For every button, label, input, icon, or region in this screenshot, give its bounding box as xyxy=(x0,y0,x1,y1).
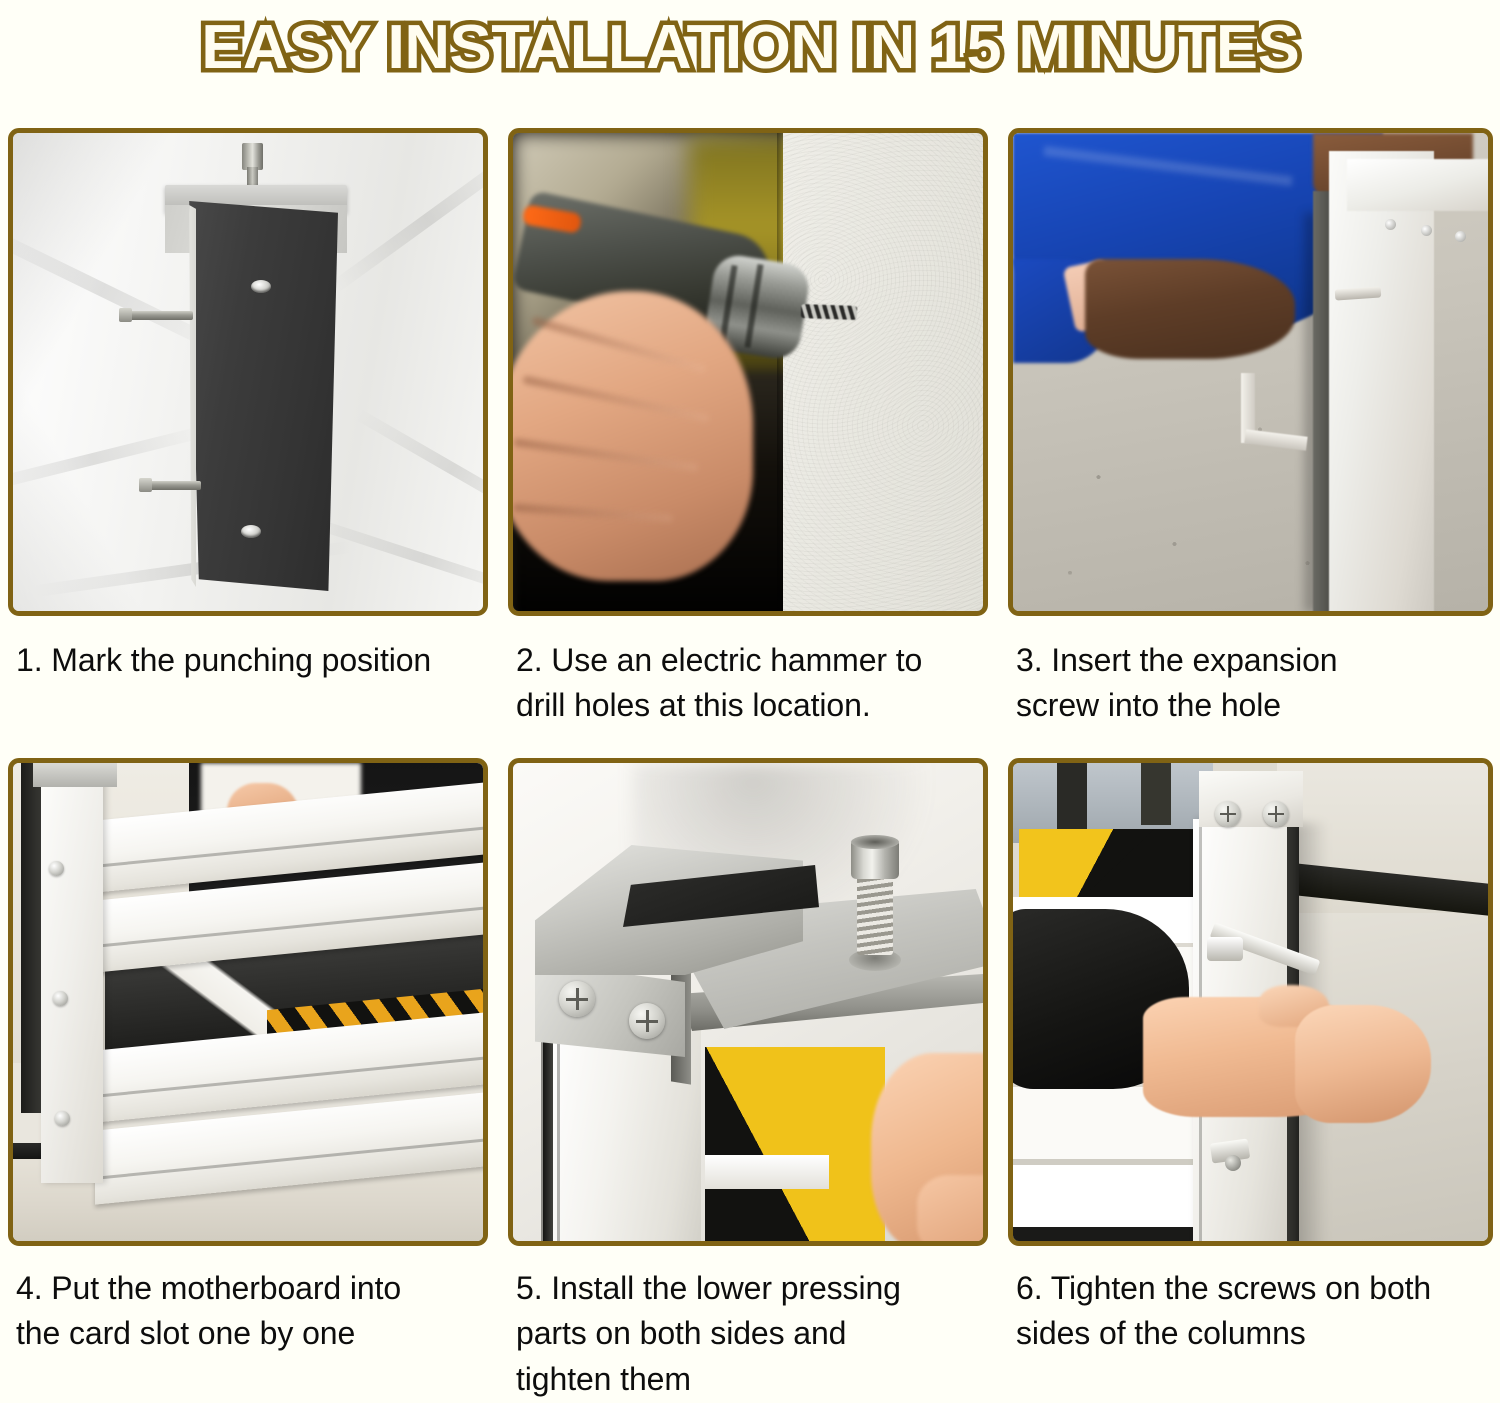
wrench-head xyxy=(1207,937,1243,961)
step-4-photo xyxy=(8,758,488,1246)
background-dark-bar xyxy=(1141,763,1171,825)
column-screw xyxy=(55,1111,70,1126)
hand-holding-drill xyxy=(513,291,753,581)
top-bolt-head xyxy=(242,143,263,170)
fingers xyxy=(917,1175,983,1241)
hand-tightening-screw xyxy=(1295,1005,1431,1123)
thumb-screw-top xyxy=(851,835,899,849)
step-6: 6. Tighten the screws on both sides of t… xyxy=(1008,758,1493,1402)
worker-arm xyxy=(1085,259,1295,359)
column-dark-edge xyxy=(21,763,43,1113)
step-6-photo xyxy=(1008,758,1493,1246)
phillips-screw xyxy=(1263,801,1289,827)
lower-bolt-head xyxy=(1225,1155,1241,1171)
white-column xyxy=(41,763,103,1183)
step-1: 1. Mark the punching position xyxy=(8,128,488,758)
phillips-screw xyxy=(629,1003,665,1039)
step-5-caption-line: 5. Install the lower pressing xyxy=(516,1266,982,1311)
step-3: 3. Insert the expansion screw into the h… xyxy=(1008,128,1493,758)
step-6-caption-line: sides of the columns xyxy=(1016,1311,1487,1356)
drill-bit xyxy=(801,304,857,320)
punch-hole xyxy=(251,280,271,293)
step-5: 5. Install the lower pressing parts on b… xyxy=(508,758,988,1402)
marking-pin-cap xyxy=(139,478,152,492)
wall-edge-shadow xyxy=(777,133,783,611)
textured-wall xyxy=(783,133,983,611)
step-4-caption: 4. Put the motherboard into the card slo… xyxy=(8,1246,488,1396)
column-screw xyxy=(1385,219,1396,230)
phillips-screw xyxy=(1215,801,1241,827)
step-2-caption-line: drill holes at this location. xyxy=(516,683,982,728)
step-3-photo xyxy=(1008,128,1493,616)
step-3-caption-line: 3. Insert the expansion xyxy=(1016,638,1487,683)
step-2-caption-line: 2. Use an electric hammer to xyxy=(516,638,982,683)
phillips-screw xyxy=(559,981,595,1017)
step-3-caption: 3. Insert the expansion screw into the h… xyxy=(1008,616,1493,758)
step-1-caption-line: 1. Mark the punching position xyxy=(16,638,482,683)
step-1-caption: 1. Mark the punching position xyxy=(8,616,488,758)
punch-hole xyxy=(241,525,261,538)
column-top-plate xyxy=(33,763,117,787)
step-2-caption: 2. Use an electric hammer to drill holes… xyxy=(508,616,988,758)
step-2: 2. Use an electric hammer to drill holes… xyxy=(508,128,988,758)
barrier-board xyxy=(705,1155,829,1189)
step-4-caption-line: 4. Put the motherboard into xyxy=(16,1266,482,1311)
step-5-caption-line: parts on both sides and xyxy=(516,1311,982,1356)
column-screw xyxy=(49,861,64,876)
column-screw xyxy=(1455,231,1466,242)
step-5-photo xyxy=(508,758,988,1246)
installation-guide-page: EASY INSTALLATION IN 15 MINUTES xyxy=(0,0,1500,1403)
step-6-caption-line: 6. Tighten the screws on both xyxy=(1016,1266,1487,1311)
hazard-stripe xyxy=(705,1047,885,1241)
page-title: EASY INSTALLATION IN 15 MINUTES xyxy=(201,17,1299,79)
white-column xyxy=(1329,151,1434,611)
step-3-caption-line: screw into the hole xyxy=(1016,683,1487,728)
step-4: 4. Put the motherboard into the card slo… xyxy=(8,758,488,1402)
step-2-photo xyxy=(508,128,988,616)
step-6-caption: 6. Tighten the screws on both sides of t… xyxy=(1008,1246,1493,1396)
step-4-caption-line: the card slot one by one xyxy=(16,1311,482,1356)
marking-pin-cap xyxy=(119,308,132,322)
step-5-caption: 5. Install the lower pressing parts on b… xyxy=(508,1246,988,1402)
steps-grid: 1. Mark the punching position xyxy=(8,128,1492,1402)
column-groove xyxy=(557,1013,560,1241)
thumb-screw-thread xyxy=(857,875,893,955)
column-screw xyxy=(1421,225,1432,236)
step-5-caption-line: tighten them xyxy=(516,1357,982,1402)
column-top-bracket xyxy=(1347,159,1488,211)
step-1-photo xyxy=(8,128,488,616)
column-screw xyxy=(53,991,68,1006)
page-title-bar: EASY INSTALLATION IN 15 MINUTES xyxy=(0,0,1500,96)
